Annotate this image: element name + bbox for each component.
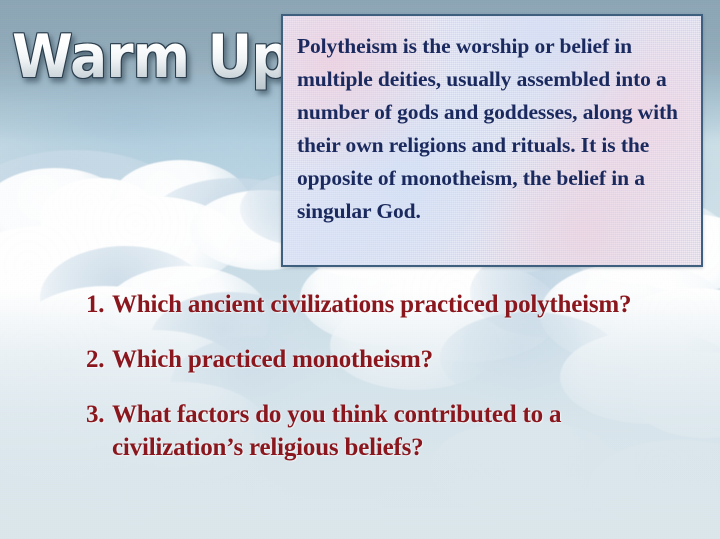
list-item: 1. Which ancient civilizations practiced… xyxy=(86,288,686,321)
list-item-number: 3. xyxy=(86,398,104,431)
definition-callout-box: Polytheism is the worship or belief in m… xyxy=(281,14,703,267)
list-item-number: 2. xyxy=(86,343,104,376)
page-title: Warm Up xyxy=(12,24,290,90)
definition-text: Polytheism is the worship or belief in m… xyxy=(283,16,701,228)
list-item-text: Which practiced monotheism? xyxy=(112,343,686,376)
question-list: 1. Which ancient civilizations practiced… xyxy=(86,288,686,486)
list-item: 2. Which practiced monotheism? xyxy=(86,343,686,376)
list-item-text: Which ancient civilizations practiced po… xyxy=(112,288,686,321)
list-item-number: 1. xyxy=(86,288,104,321)
list-item: 3. What factors do you think contributed… xyxy=(86,398,686,464)
list-item-text: What factors do you think contributed to… xyxy=(112,398,686,464)
slide-canvas: Warm Up Polytheism is the worship or bel… xyxy=(0,0,720,539)
